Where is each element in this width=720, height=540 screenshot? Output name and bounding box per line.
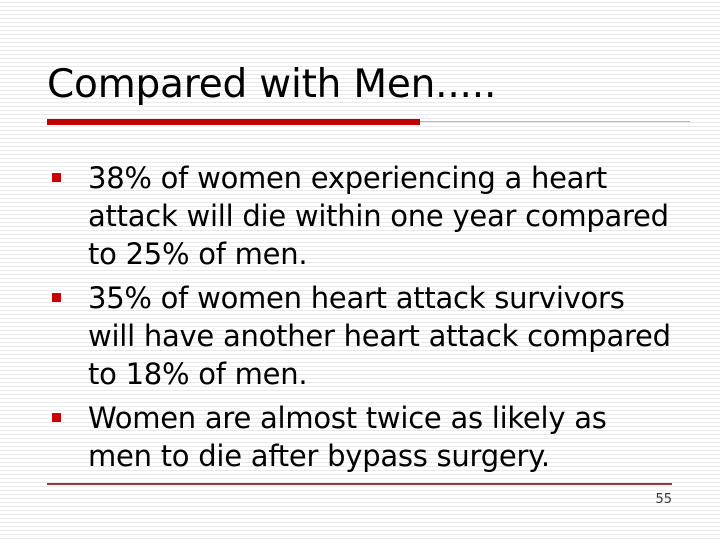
list-item-label: 38% of women experiencing a heart attack… (88, 161, 669, 271)
list-item: Women are almost twice as likely as men … (47, 399, 679, 475)
list-item: 38% of women experiencing a heart attack… (47, 159, 679, 273)
page-title: Compared with Men..... (47, 62, 687, 108)
list-item-label: 35% of women heart attack survivors will… (88, 281, 671, 391)
square-bullet-icon (52, 413, 61, 422)
bullet-list: 38% of women experiencing a heart attack… (47, 159, 679, 475)
list-item-label: Women are almost twice as likely as men … (88, 401, 607, 473)
square-bullet-icon (52, 293, 61, 302)
square-bullet-icon (52, 173, 61, 182)
page-number: 55 (600, 492, 672, 507)
title-underline-thick (47, 119, 420, 125)
footer-divider (47, 483, 672, 485)
slide-canvas: Compared with Men..... 38% of women expe… (0, 0, 720, 540)
title-block: Compared with Men..... (47, 62, 687, 108)
list-item: 35% of women heart attack survivors will… (47, 279, 679, 393)
